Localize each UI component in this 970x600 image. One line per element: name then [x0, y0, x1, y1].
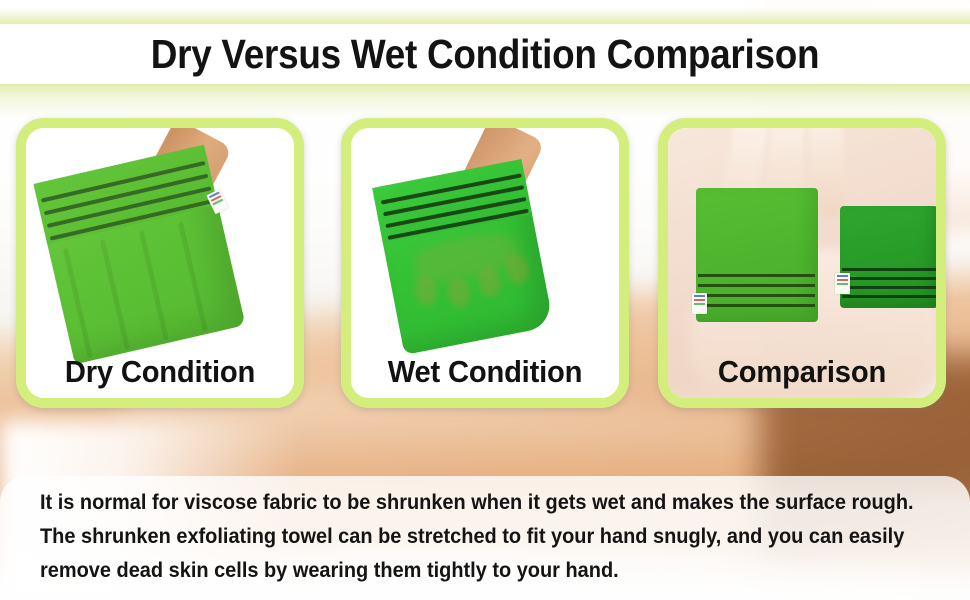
mitt-stripe — [698, 294, 815, 297]
finger-silhouette — [476, 266, 503, 300]
card-wet-condition[interactable]: Wet Condition — [341, 118, 629, 408]
exfoliating-mitt-wet — [372, 159, 554, 355]
mitt-stripe — [698, 284, 815, 287]
mitt-stripe — [842, 286, 936, 289]
mitt-stripe — [698, 274, 815, 277]
finger-silhouette — [445, 276, 472, 310]
mitt-stripe — [842, 295, 936, 298]
card-label-dry: Dry Condition — [34, 354, 286, 390]
card-label-comparison: Comparison — [676, 354, 928, 390]
mitt-stripe — [698, 304, 815, 307]
mitt-fold — [100, 239, 130, 349]
comparison-card-row: Dry Condition Wet Condition — [0, 118, 970, 410]
mitt-fold — [63, 248, 93, 358]
card-dry-condition[interactable]: Dry Condition — [16, 118, 304, 408]
infographic-root: Dry Versus Wet Condition Comparison — [0, 0, 970, 600]
card-label-wet: Wet Condition — [359, 354, 611, 390]
description-line-2: The shrunken exfoliating towel can be st… — [40, 520, 895, 554]
product-tag-icon — [692, 293, 707, 314]
mitt-stripe — [842, 268, 936, 271]
mitt-fold — [139, 230, 169, 340]
finger-silhouette — [504, 252, 531, 286]
description-text: It is normal for viscose fabric to be sh… — [40, 486, 895, 588]
page-title: Dry Versus Wet Condition Comparison — [49, 26, 922, 82]
description-line-1: It is normal for viscose fabric to be sh… — [40, 486, 895, 520]
card-comparison[interactable]: Comparison — [658, 118, 946, 408]
mitt-fold — [178, 221, 208, 331]
description-line-3: remove dead skin cells by wearing them t… — [40, 554, 895, 588]
product-tag-icon — [206, 189, 229, 214]
product-tag-icon — [835, 273, 850, 294]
banner-accent-line-bottom — [0, 84, 970, 118]
mitt-stripe — [842, 277, 936, 280]
mitt-sample-dry — [696, 188, 818, 322]
mitt-sample-wet — [840, 206, 936, 308]
